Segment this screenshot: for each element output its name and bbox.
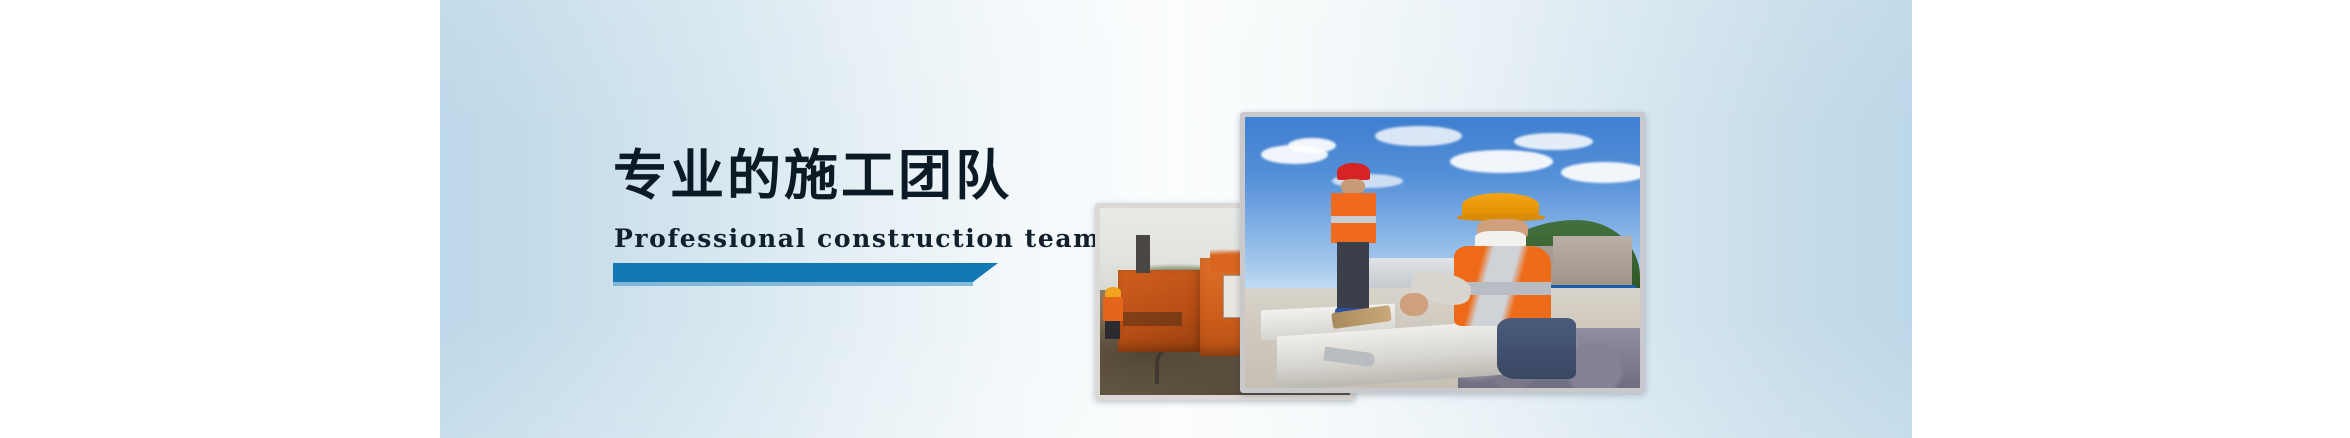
promotional-banner: 专业的施工团队 Professional construction team [0, 0, 2350, 438]
worker-background [1328, 163, 1379, 320]
worker-foreground-legs [1497, 318, 1577, 379]
banner-subtitle: Professional construction team [614, 224, 1083, 253]
worker-foreground [1443, 193, 1585, 383]
worker-background-legs [1337, 242, 1369, 310]
cloud [1561, 162, 1640, 183]
worker-background-vest [1331, 193, 1376, 243]
photo-curbstone-workers-scene [1245, 117, 1640, 388]
accent-bar-group [613, 263, 998, 288]
worker-foreground-hand [1400, 293, 1428, 316]
rig-worker-legs [1105, 321, 1119, 339]
photo-curbstone-workers [1240, 112, 1645, 393]
cloud [1450, 150, 1553, 173]
cloud [1288, 138, 1335, 154]
cloud [1375, 126, 1462, 147]
banner-text-block: 专业的施工团队 Professional construction team [613, 148, 1083, 253]
rig-worker-helmet [1105, 287, 1121, 297]
worker-background-helmet [1337, 163, 1370, 180]
rig-worker [1103, 287, 1123, 339]
banner-headline: 专业的施工团队 [613, 148, 1083, 202]
rig-machine-left [1118, 270, 1203, 352]
accent-bar [613, 263, 998, 282]
accent-bar-underline [613, 282, 973, 286]
rig-worker-vest [1103, 297, 1123, 321]
cloud [1514, 133, 1593, 150]
